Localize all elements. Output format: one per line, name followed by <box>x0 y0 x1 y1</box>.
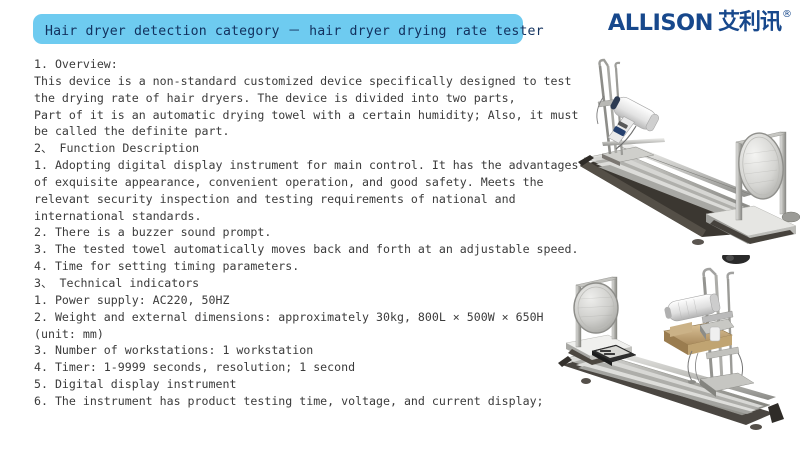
registered-trademark-icon: ® <box>782 10 792 20</box>
specification-text-block: 1. Overview: This device is a non-standa… <box>34 56 574 410</box>
text-line: 3. Number of workstations: 1 workstation <box>34 342 574 359</box>
product-photo-group <box>540 50 800 450</box>
text-line: 6. The instrument has product testing ti… <box>34 393 574 410</box>
hair-dryer-drying-rate-tester-photo-angle <box>542 255 800 445</box>
text-line: relevant security inspection and testing… <box>34 191 574 208</box>
text-line: 5. Digital display instrument <box>34 376 574 393</box>
text-line: (unit: mm) <box>34 326 574 343</box>
product-spec-page: Hair dryer detection category － hair dry… <box>0 0 800 450</box>
text-line: 3. The tested towel automatically moves … <box>34 241 574 258</box>
hair-dryer-drying-rate-tester-photo-front <box>558 54 800 259</box>
text-line: 2. There is a buzzer sound prompt. <box>34 224 574 241</box>
text-line: the drying rate of hair dryers. The devi… <box>34 90 574 107</box>
text-line: of exquisite appearance, convenient oper… <box>34 174 574 191</box>
allison-logo: ALLISON 艾利讯 ® <box>608 10 792 42</box>
page-header: Hair dryer detection category － hair dry… <box>0 0 800 52</box>
title-banner: Hair dryer detection category － hair dry… <box>33 14 523 44</box>
page-title: Hair dryer detection category － hair dry… <box>45 20 544 39</box>
text-line: 3、 Technical indicators <box>34 275 574 292</box>
text-line: 1. Power supply: AC220, 50HZ <box>34 292 574 309</box>
text-line: 1. Adopting digital display instrument f… <box>34 157 574 174</box>
text-line: Part of it is an automatic drying towel … <box>34 107 574 124</box>
logo-wordmark: ALLISON <box>608 10 713 36</box>
text-line: be called the definite part. <box>34 123 574 140</box>
text-line: 4. Time for setting timing parameters. <box>34 258 574 275</box>
text-line: 2. Weight and external dimensions: appro… <box>34 309 574 326</box>
text-line: international standards. <box>34 208 574 225</box>
logo-chinese-name: 艾利讯 <box>718 10 781 36</box>
text-line: 2、 Function Description <box>34 140 574 157</box>
text-line: 1. Overview: <box>34 56 574 73</box>
text-line: 4. Timer: 1-9999 seconds, resolution; 1 … <box>34 359 574 376</box>
text-line: This device is a non-standard customized… <box>34 73 574 90</box>
